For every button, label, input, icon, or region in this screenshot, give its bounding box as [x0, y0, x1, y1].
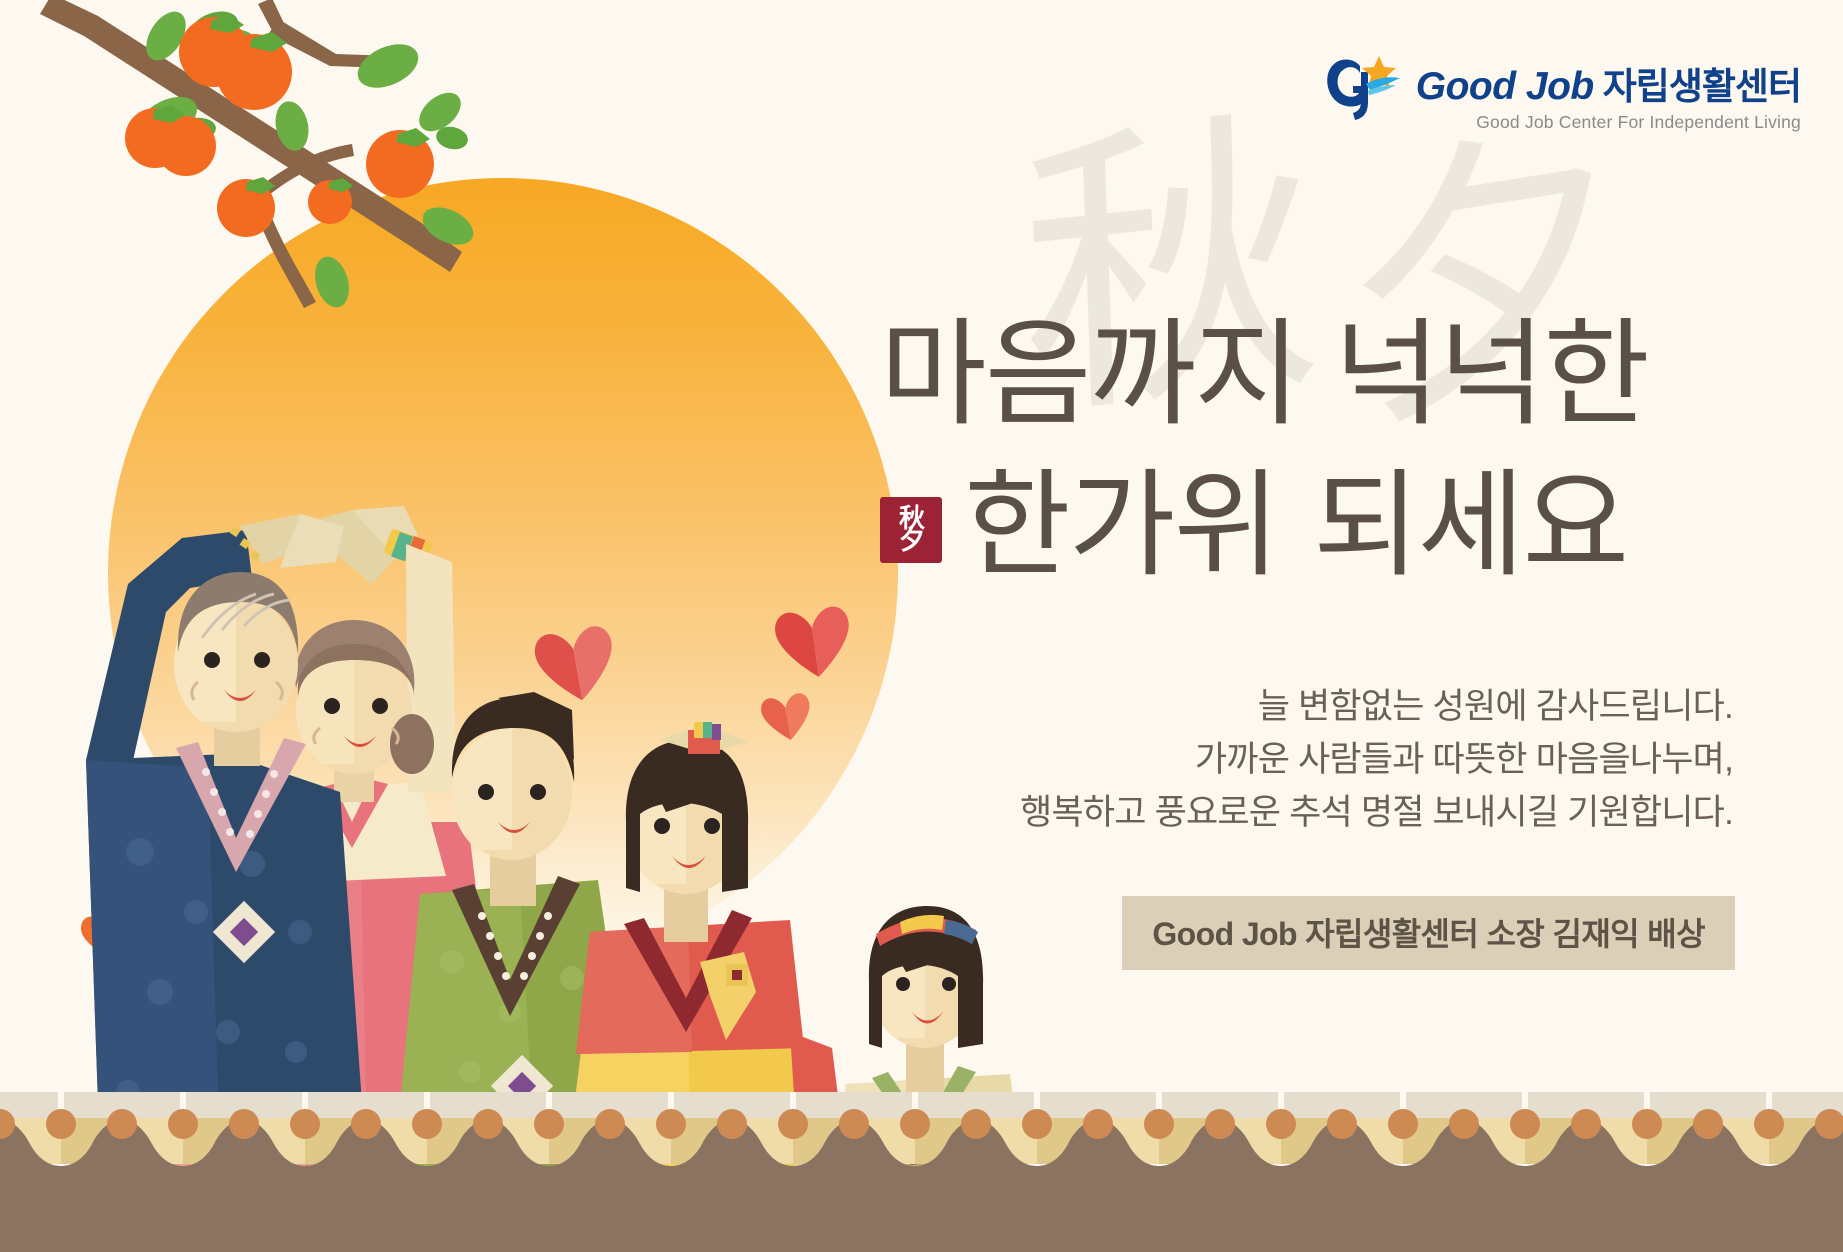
persimmon-branch [0, 0, 560, 310]
signature-bar: Good Job 자립생활센터 소장 김재익 배상 [1122, 896, 1735, 970]
logo-brand-line: Good Job 자립생활센터 [1416, 56, 1801, 110]
hanok-roof-tile-wall [0, 1092, 1843, 1252]
signature-text: Good Job 자립생활센터 소장 김재익 배상 [1152, 909, 1705, 955]
gj-star-swoosh-icon [1322, 52, 1402, 124]
logo-brand-kr: 자립생활센터 [1603, 56, 1801, 110]
brand-logo[interactable]: Good Job 자립생활센터 Good Job Center For Inde… [1322, 52, 1801, 133]
headline-line-1: 마음까지 넉넉한 [880, 300, 1780, 451]
logo-brand-en: Good Job [1416, 65, 1594, 109]
logo-text-block: Good Job 자립생활센터 Good Job Center For Inde… [1416, 52, 1801, 133]
logo-tagline: Good Job Center For Independent Living [1476, 112, 1801, 133]
chuseok-greeting-card: 秋 夕 [0, 0, 1843, 1252]
